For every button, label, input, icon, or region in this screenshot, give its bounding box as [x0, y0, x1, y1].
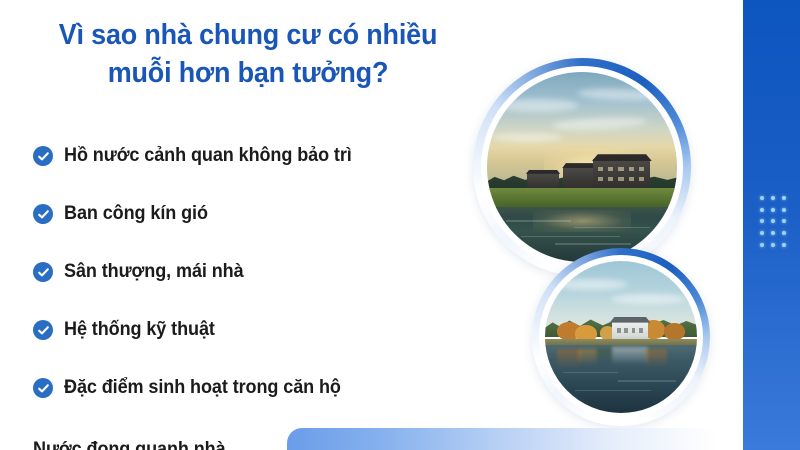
check-circle-icon: [33, 146, 53, 166]
dot-cell: [768, 192, 779, 204]
dot-cell: [778, 216, 789, 228]
check-circle-icon: [33, 262, 53, 282]
dot-cell: [768, 216, 779, 228]
dot-cell: [757, 227, 768, 239]
check-circle-icon: [33, 320, 53, 340]
autumn-lakeside-house-photo: [545, 261, 697, 413]
title-line-1: Vì sao nhà chung cư có nhiều: [34, 16, 462, 54]
list-item[interactable]: Nước đọng quanh nhà: [33, 437, 236, 450]
slide-canvas: Vì sao nhà chung cư có nhiều muỗi hơn bạ…: [0, 0, 800, 450]
dot-cell: [778, 204, 789, 216]
list-item[interactable]: Sân thượng, mái nhà: [33, 256, 463, 288]
dot-cell: [757, 216, 768, 228]
list-item[interactable]: Đặc điểm sinh hoạt trong căn hộ: [33, 372, 463, 404]
list-item-label: Ban công kín gió: [64, 202, 208, 226]
title-line-2: muỗi hơn bạn tưởng?: [34, 54, 462, 92]
check-circle-icon: [33, 378, 53, 398]
list-item-label: Nước đọng quanh nhà: [33, 438, 226, 450]
bottom-accent-bar: [287, 428, 717, 450]
bullet-list: Hồ nước cảnh quan không bảo trì Ban công…: [33, 140, 463, 404]
dot-cell: [778, 239, 789, 251]
dot-cell: [778, 192, 789, 204]
list-item-label: Đặc điểm sinh hoạt trong căn hộ: [64, 376, 341, 400]
list-item[interactable]: Ban công kín gió: [33, 198, 463, 230]
dot-cell: [768, 227, 779, 239]
list-item-label: Hệ thống kỹ thuật: [64, 318, 215, 342]
list-item[interactable]: Hệ thống kỹ thuật: [33, 314, 463, 346]
dot-grid-decoration: [757, 192, 789, 251]
list-item[interactable]: Hồ nước cảnh quan không bảo trì: [33, 140, 463, 172]
page-title: Vì sao nhà chung cư có nhiều muỗi hơn bạ…: [18, 16, 478, 92]
check-circle-icon: [33, 204, 53, 224]
apartment-complex-lake-sunset-photo: [487, 72, 677, 262]
dot-cell: [757, 204, 768, 216]
dot-cell: [757, 239, 768, 251]
list-item-label: Hồ nước cảnh quan không bảo trì: [64, 144, 352, 168]
list-item-label: Sân thượng, mái nhà: [64, 260, 244, 284]
dot-cell: [757, 192, 768, 204]
dot-cell: [778, 227, 789, 239]
dot-cell: [768, 204, 779, 216]
dot-cell: [768, 239, 779, 251]
